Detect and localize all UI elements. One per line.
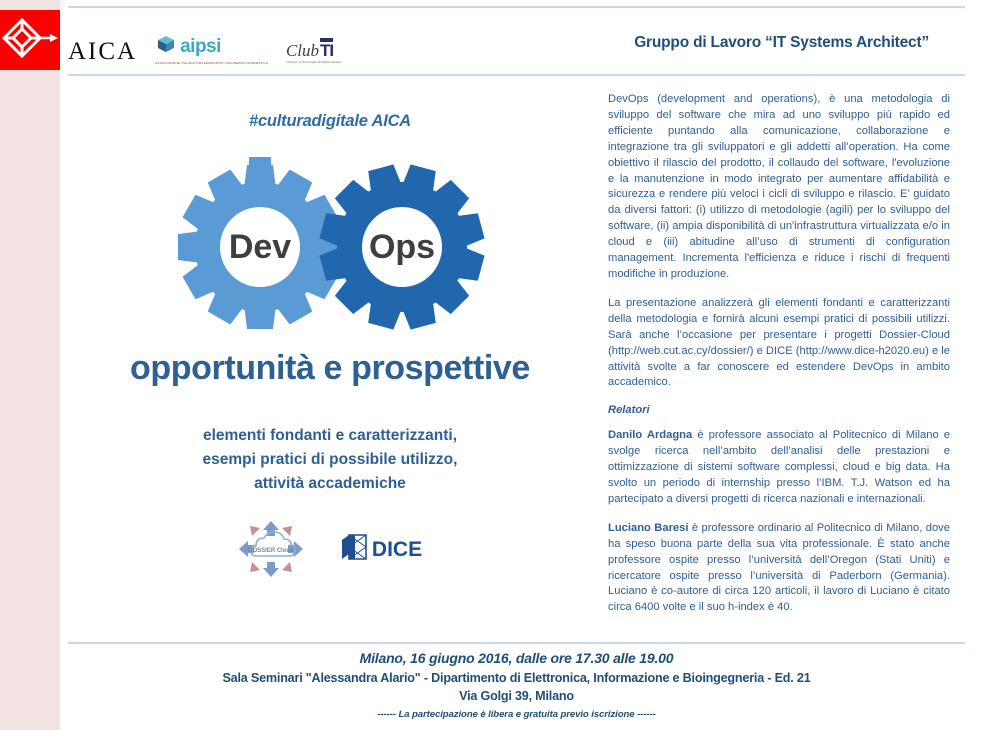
clubti-logo: Club TI Club per le Tecnologie dell'Info… [286, 38, 342, 64]
aica-logo-icon [0, 10, 60, 70]
subtitle-block: elementi fondanti e caratterizzanti, ese… [70, 424, 590, 496]
top-divider [68, 6, 965, 8]
page-header: AICA aipsi ASSOCIAZIONE ITALIANA PROFESS… [68, 10, 965, 72]
subtitle-line-2: esempi pratici di possibile utilizzo, [70, 448, 590, 472]
aipsi-wordmark: aipsi [180, 37, 221, 56]
gear-ops-label: Ops [369, 228, 435, 266]
hashtag-label: #culturadigitale AICA [70, 112, 590, 131]
event-datetime: Milano, 16 giugno 2016, dalle ore 17.30 … [68, 650, 965, 666]
gear-dev-shape: Dev [178, 157, 342, 329]
abstract-paragraph-2: La presentazione analizzerà gli elementi… [608, 296, 950, 391]
right-column: DevOps (development and operations), è u… [608, 92, 950, 632]
speaker-name-2: Luciano Baresi [608, 522, 688, 534]
speaker-bio-2: Luciano Baresi è professore ordinario al… [608, 521, 950, 616]
event-address: Via Golgi 39, Milano [68, 689, 965, 703]
page-footer: Milano, 16 giugno 2016, dalle ore 17.30 … [68, 650, 965, 720]
speaker-bio-1: Danilo Ardagna è professore associato al… [608, 428, 950, 508]
left-accent-strip [0, 0, 60, 730]
aipsi-logo: aipsi ASSOCIAZIONE ITALIANA PROFESSIONIS… [155, 34, 268, 65]
header-divider [68, 74, 965, 76]
dice-logo: DICE [340, 533, 422, 566]
dossier-cloud-logo: DOSSIER Cloud [238, 520, 304, 578]
dossier-cloud-label: DOSSIER Cloud [248, 548, 294, 554]
project-logo-row: DOSSIER Cloud DICE [70, 520, 590, 578]
clubti-club-word: Club [286, 42, 319, 59]
poster-slide: AICA aipsi ASSOCIAZIONE ITALIANA PROFESS… [0, 0, 1000, 730]
aica-wordmark: AICA [68, 39, 137, 65]
clubti-ti-word: TI [320, 38, 333, 59]
devops-gears-graphic: Dev [70, 155, 590, 335]
subtitle-line-3: attività accademiche [70, 472, 590, 496]
abstract-paragraph-1: DevOps (development and operations), è u… [608, 92, 950, 283]
partner-logo-row: AICA aipsi ASSOCIAZIONE ITALIANA PROFESS… [68, 34, 342, 65]
left-column: #culturadigitale AICA [70, 92, 590, 632]
working-group-title: Gruppo di Lavoro “IT Systems Architect” [634, 34, 929, 52]
subtitle-line-1: elementi fondanti e caratterizzanti, [70, 424, 590, 448]
page-title: opportunità e prospettive [70, 349, 590, 388]
clubti-tagline: Club per le Tecnologie dell'Informazione [286, 60, 342, 64]
dice-wordmark: DICE [372, 539, 422, 560]
aipsi-cube-icon [155, 34, 177, 59]
gear-ops-shape: Ops [319, 164, 486, 331]
speaker-bio-text-2: è professore ordinario al Politecnico di… [608, 522, 950, 614]
registration-note: ------ La partecipazione è libera e grat… [68, 709, 965, 720]
footer-divider [68, 642, 965, 644]
event-venue: Sala Seminari "Alessandra Alario" - Dipa… [68, 671, 965, 685]
speakers-heading: Relatori [608, 404, 950, 416]
dice-cube-icon [340, 533, 368, 566]
aipsi-tagline: ASSOCIAZIONE ITALIANA PROFESSIONISTI SIC… [155, 61, 268, 65]
speaker-name-1: Danilo Ardagna [608, 429, 692, 441]
gear-dev-label: Dev [229, 228, 291, 266]
